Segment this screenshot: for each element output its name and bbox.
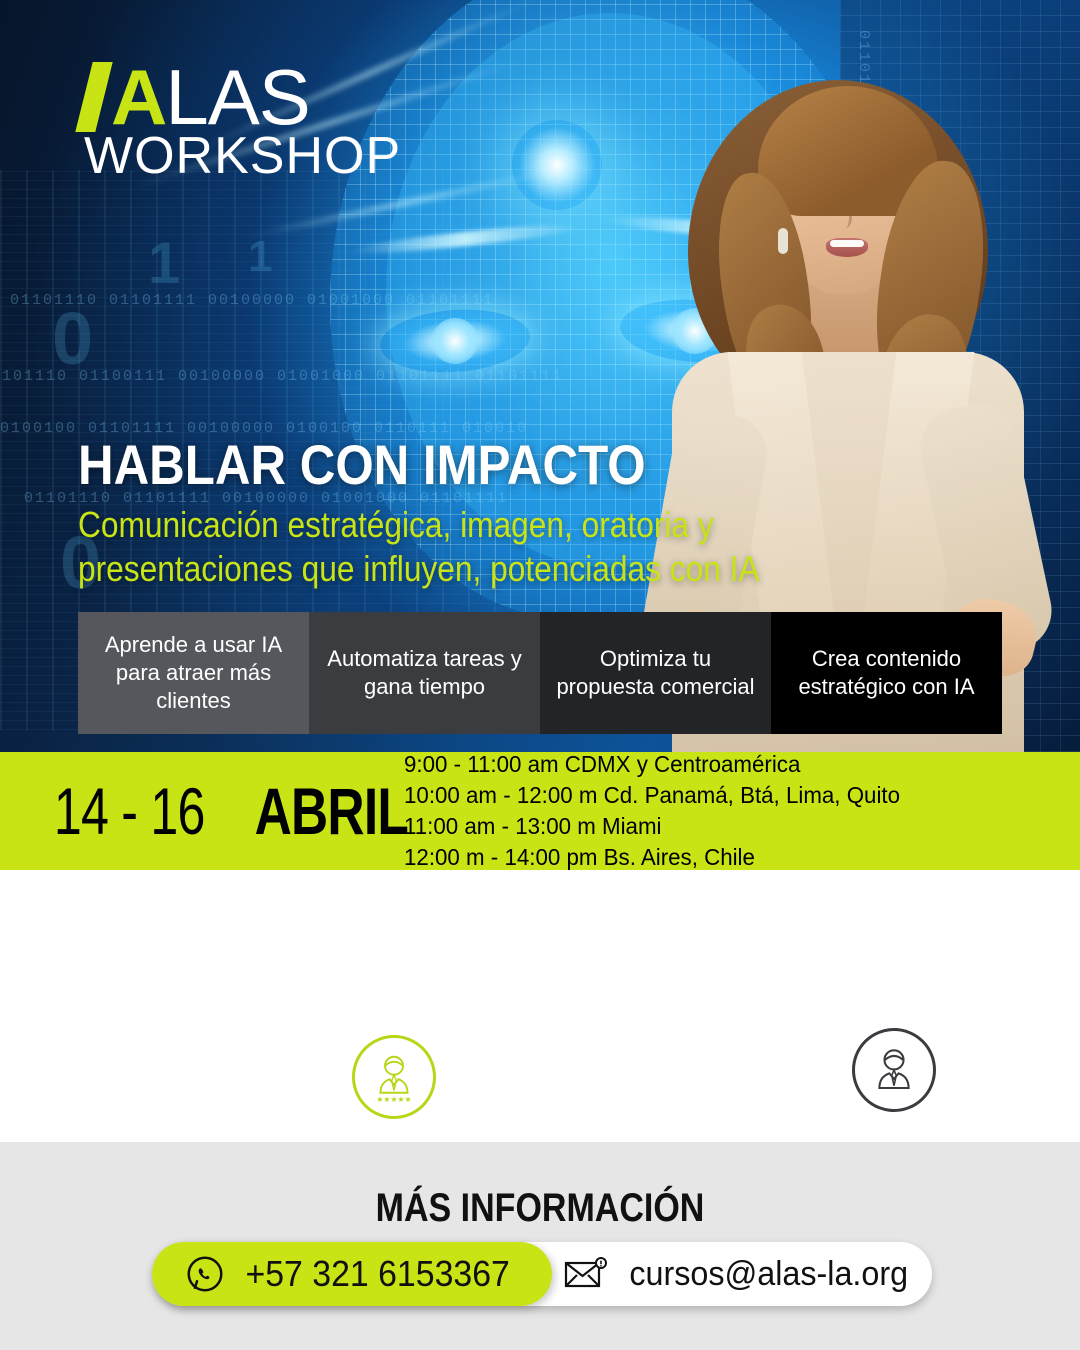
envelope-icon bbox=[564, 1257, 608, 1291]
background-digit: 1 bbox=[148, 230, 180, 297]
benefit-box-3: Optimiza tu propuesta comercial bbox=[540, 612, 771, 734]
event-date: 14 - 16 ABRIL bbox=[0, 773, 400, 849]
page-subtitle: Comunicación estratégica, imagen, orator… bbox=[78, 503, 773, 591]
whatsapp-icon bbox=[185, 1254, 225, 1294]
background-digit: 1 bbox=[248, 232, 272, 282]
contact-bar: +57 321 6153367 cursos@alas-la.org bbox=[152, 1242, 932, 1306]
subtitle-line-2: presentaciones que influyen, potenciadas… bbox=[78, 547, 773, 591]
general-person-badge bbox=[852, 1028, 936, 1112]
timezone-line: 10:00 am - 12:00 m Cd. Panamá, Btá, Lima… bbox=[404, 780, 900, 811]
person-with-stars-icon: ★★★★★ bbox=[367, 1050, 421, 1104]
svg-text:★★★★★: ★★★★★ bbox=[376, 1095, 411, 1104]
timezone-line: 11:00 am - 13:00 m Miami bbox=[404, 811, 900, 842]
event-days: 14 - 16 bbox=[54, 773, 205, 849]
background-digit: 0 bbox=[52, 296, 93, 381]
benefit-box-2: Automatiza tareas y gana tiempo bbox=[309, 612, 540, 734]
email-block[interactable]: cursos@alas-la.org bbox=[564, 1242, 915, 1306]
more-info-title: MÁS INFORMACIÓN bbox=[81, 1186, 999, 1231]
presenter-mouth bbox=[826, 238, 868, 257]
event-month: ABRIL bbox=[255, 773, 408, 849]
page-title: HABLAR CON IMPACTO bbox=[78, 432, 694, 497]
brand-logo: A LAS WORKSHOP bbox=[84, 62, 401, 186]
forehead-glow-node-icon bbox=[512, 120, 602, 210]
benefits-row: Aprende a usar IA para atraer más client… bbox=[78, 612, 1002, 734]
socios-person-badge: ★★★★★ bbox=[352, 1035, 436, 1119]
timezone-line: 12:00 m - 14:00 pm Bs. Aires, Chile bbox=[404, 842, 900, 873]
whatsapp-button[interactable]: +57 321 6153367 bbox=[152, 1242, 552, 1306]
logo-ia-text: A bbox=[111, 62, 165, 132]
whatsapp-number: +57 321 6153367 bbox=[246, 1253, 510, 1295]
benefit-box-4: Crea contenido estratégico con IA bbox=[771, 612, 1002, 734]
email-address: cursos@alas-la.org bbox=[629, 1255, 908, 1294]
subtitle-line-1: Comunicación estratégica, imagen, orator… bbox=[78, 503, 773, 547]
logo-las-text: LAS bbox=[165, 62, 309, 132]
timezone-list: 9:00 - 11:00 am CDMX y Centroamérica 10:… bbox=[400, 749, 915, 873]
date-band: 14 - 16 ABRIL 9:00 - 11:00 am CDMX y Cen… bbox=[0, 752, 1080, 870]
benefit-box-1: Aprende a usar IA para atraer más client… bbox=[78, 612, 309, 734]
headline-block: HABLAR CON IMPACTO Comunicación estratég… bbox=[78, 432, 778, 591]
timezone-line: 9:00 - 11:00 am CDMX y Centroamérica bbox=[404, 749, 900, 780]
logo-workshop-text: WORKSHOP bbox=[84, 126, 401, 186]
person-icon bbox=[867, 1043, 921, 1097]
presenter-earring bbox=[778, 228, 788, 254]
poster-root: 01101110 01101111 00100000 01001000 0110… bbox=[0, 0, 1080, 1350]
logo-primary-row: A LAS bbox=[84, 62, 401, 132]
